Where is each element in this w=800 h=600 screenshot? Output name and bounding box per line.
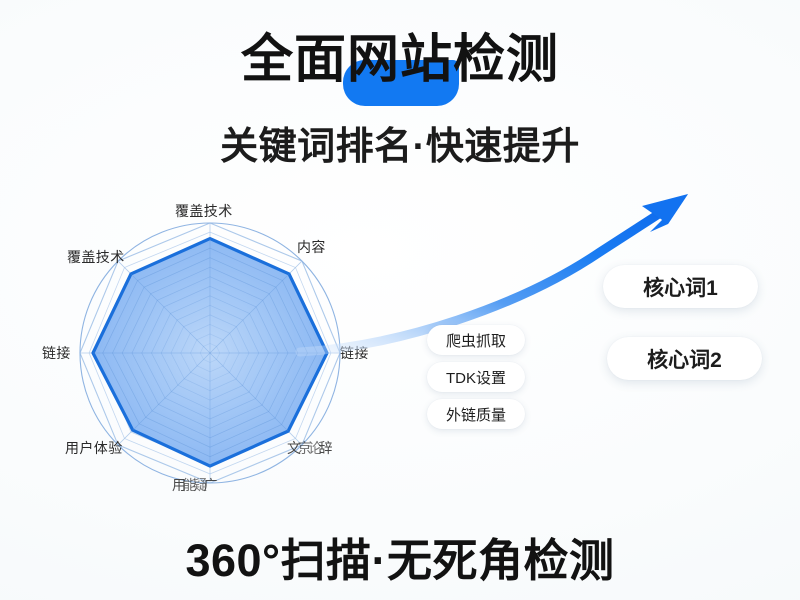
tag-pill-label-2: 外链质量 [446, 404, 506, 425]
title-block: 全面网站检测 [0, 32, 800, 88]
tag-pill-label-1: TDK设置 [446, 367, 506, 388]
radar-label-3: 文京论辞 [287, 438, 329, 458]
radar-label-5: 用户体验 [65, 438, 123, 458]
radar-label-7: 覆盖技术 [67, 247, 125, 267]
tag-pill-0[interactable]: 爬虫抓取 [427, 325, 525, 355]
keyword-pill-label-0: 核心词1 [643, 272, 718, 302]
radar-label-6: 链接 [42, 343, 71, 363]
tag-pill-label-0: 爬虫抓取 [446, 330, 506, 351]
page-title: 全面网站检测 [241, 32, 559, 88]
radar-label-4: 用能疑广 [172, 475, 214, 495]
tag-pill-2[interactable]: 外链质量 [427, 399, 525, 429]
radar-label-1: 内容 [297, 237, 326, 257]
subtitle: 关键词排名·快速提升 [0, 115, 800, 170]
keyword-pill-0[interactable]: 核心词1 [603, 265, 758, 308]
radar-label-2: 链接 [340, 343, 369, 363]
growth-arrow-head-2 [650, 194, 688, 232]
footer-tagline: 360°扫描·无死角检测 [0, 524, 800, 589]
poster-canvas: 全面网站检测 关键词排名·快速提升 360°扫描·无死角检测 覆盖技术 内容 链… [0, 0, 800, 600]
keyword-pill-1[interactable]: 核心词2 [607, 337, 762, 380]
page-title-text: 全面网站检测 [241, 31, 559, 89]
radar-chart: 覆盖技术 内容 链接 文京论辞 用能疑广 用户体验 链接 覆盖技术 [20, 195, 420, 515]
tag-pill-1[interactable]: TDK设置 [427, 362, 525, 392]
radar-label-0: 覆盖技术 [175, 201, 233, 221]
growth-arrow-head [642, 194, 688, 224]
keyword-pill-label-1: 核心词2 [647, 344, 722, 374]
